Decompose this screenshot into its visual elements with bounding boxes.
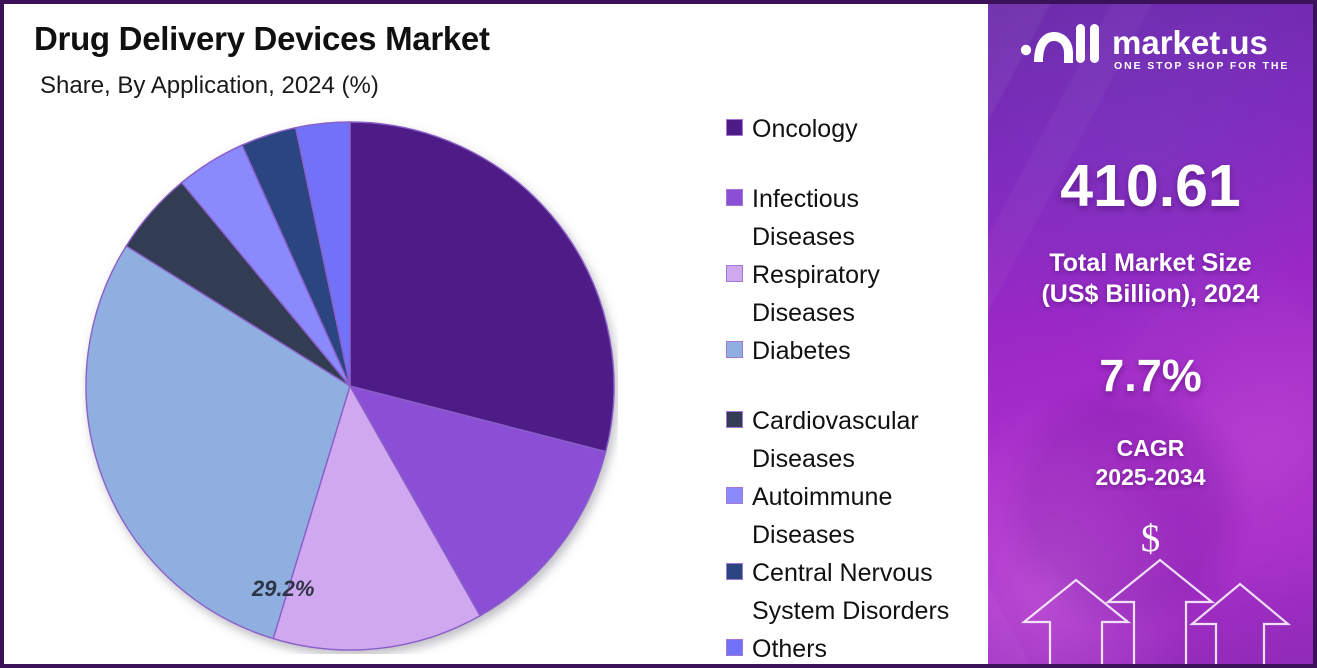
market-us-logo-svg: market.us ONE STOP SHOP FOR THE REPORTS (1016, 18, 1288, 74)
legend-item-label: Diabetes (752, 332, 851, 370)
legend-item[interactable]: Cardiovascular (726, 402, 986, 440)
logo-wordmark: market.us (1112, 24, 1268, 61)
legend-item[interactable]: Central Nervous (726, 554, 986, 592)
legend-swatch-icon (726, 411, 743, 428)
legend-swatch-icon (726, 639, 743, 656)
pie-slice-label-diabetes: 29.2% (252, 576, 314, 602)
legend-item-label-cont: System Disorders (726, 592, 986, 630)
infographic-page: Drug Delivery Devices Market Share, By A… (0, 0, 1317, 668)
cagr-value: 7.7% (988, 350, 1313, 402)
growth-arrows-icon (988, 544, 1313, 664)
page-subtitle: Share, By Application, 2024 (%) (40, 72, 379, 100)
legend-swatch-icon (726, 189, 743, 206)
legend-swatch-icon (726, 119, 743, 136)
legend-item-label: Oncology (752, 110, 858, 148)
legend-item[interactable]: Oncology (726, 110, 986, 148)
legend-item-label: Respiratory (752, 256, 880, 294)
legend-swatch-icon (726, 487, 743, 504)
legend-item[interactable]: Respiratory (726, 256, 986, 294)
cagr-caption: CAGR 2025-2034 (988, 434, 1313, 492)
cagr-caption-line1: CAGR (1117, 435, 1185, 461)
legend-item[interactable]: Others (726, 630, 986, 664)
legend-item-label: Infectious (752, 180, 859, 218)
brand-panel: market.us ONE STOP SHOP FOR THE REPORTS … (988, 4, 1313, 664)
market-size-caption: Total Market Size (US$ Billion), 2024 (988, 248, 1313, 310)
market-us-logo: market.us ONE STOP SHOP FOR THE REPORTS (1016, 18, 1288, 74)
legend-swatch-icon (726, 341, 743, 358)
legend-item-label-cont: Diseases (726, 440, 986, 478)
legend-item-label: Autoimmune (752, 478, 892, 516)
page-title: Drug Delivery Devices Market (34, 20, 490, 58)
legend-item-label: Cardiovascular (752, 402, 919, 440)
market-size-caption-line2: (US$ Billion), 2024 (1041, 280, 1259, 308)
legend-swatch-icon (726, 563, 743, 580)
pie-chart-svg (82, 118, 618, 654)
market-size-value: 410.61 (988, 152, 1313, 220)
market-size-caption-line1: Total Market Size (1049, 249, 1251, 277)
logo-tagline: ONE STOP SHOP FOR THE REPORTS (1114, 60, 1288, 72)
legend-swatch-icon (726, 265, 743, 282)
legend-item[interactable]: Autoimmune (726, 478, 986, 516)
legend-item-label-cont: Diseases (726, 218, 986, 256)
legend-item[interactable]: Diabetes (726, 332, 986, 370)
legend-item[interactable]: Infectious (726, 180, 986, 218)
legend-item-label-cont: Diseases (726, 294, 986, 332)
legend-item-label-cont: Diseases (726, 516, 986, 554)
legend-item-label: Central Nervous (752, 554, 933, 592)
pie-chart: 29.2% (82, 118, 618, 654)
legend-item-label: Others (752, 630, 827, 664)
growth-arrows-svg (988, 544, 1313, 664)
cagr-caption-line2: 2025-2034 (1096, 464, 1206, 490)
chart-legend: OncologyInfectiousDiseasesRespiratoryDis… (726, 110, 986, 664)
chart-panel: Drug Delivery Devices Market Share, By A… (4, 4, 988, 664)
